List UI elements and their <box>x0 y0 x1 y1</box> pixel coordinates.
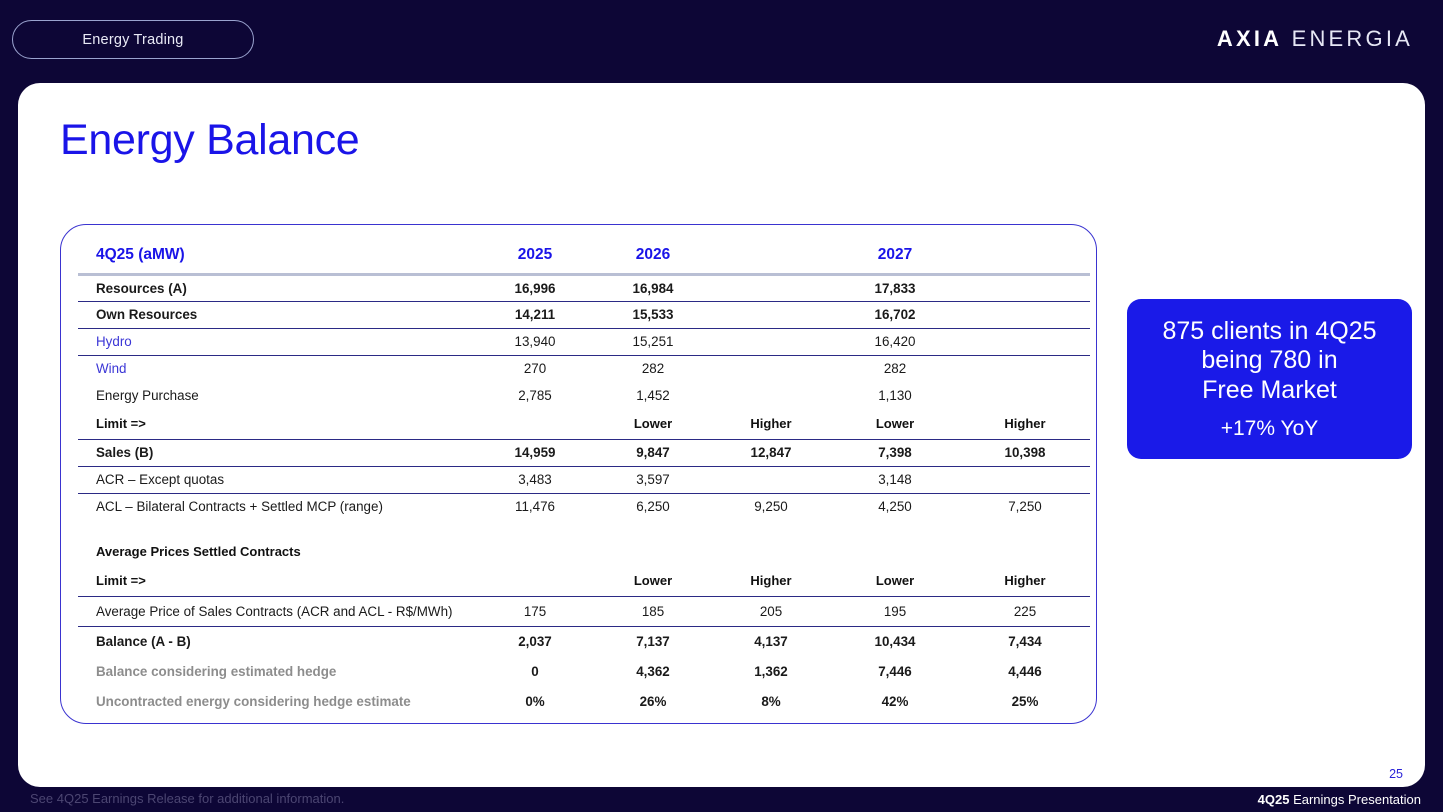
table-row: Average Price of Sales Contracts (ACR an… <box>78 596 1090 626</box>
table-row: Limit => Lower Higher Lower Higher <box>78 409 1090 439</box>
page-title: Energy Balance <box>60 116 359 165</box>
table-row: Sales (B) 14,959 9,847 12,847 7,398 10,3… <box>78 439 1090 466</box>
energy-balance-table: 4Q25 (aMW) 2025 2026 2027 Resources (A) … <box>78 238 1090 716</box>
callout-line-2: being 780 in <box>1201 346 1337 376</box>
callout-line-1: 875 clients in 4Q25 <box>1162 317 1376 347</box>
row-label-balance: Balance (A - B) <box>78 626 476 656</box>
row-label-energy-purchase: Energy Purchase <box>78 382 476 409</box>
table-row: Resources (A) 16,996 16,984 17,833 <box>78 274 1090 301</box>
row-label-acr: ACR – Except quotas <box>78 466 476 493</box>
logo-light-text: ENERGIA <box>1292 26 1413 51</box>
year-header-2026: 2026 <box>594 238 712 274</box>
company-logo: AXIA ENERGIA <box>1217 26 1413 52</box>
callout-yoy: +17% YoY <box>1221 417 1319 441</box>
row-label-hydro: Hydro <box>78 328 476 355</box>
year-header-2027: 2027 <box>830 238 960 274</box>
table-row: Balance (A - B) 2,037 7,137 4,137 10,434… <box>78 626 1090 656</box>
table-row: Limit => Lower Higher Lower Higher <box>78 566 1090 596</box>
row-label-own-resources: Own Resources <box>78 301 476 328</box>
row-label-balance-hedge: Balance considering estimated hedge <box>78 656 476 686</box>
table-section-heading: Average Prices Settled Contracts <box>78 536 1090 566</box>
footer-note: See 4Q25 Earnings Release for additional… <box>30 791 344 806</box>
section-tag-pill: Energy Trading <box>12 20 254 59</box>
table-row: Uncontracted energy considering hedge es… <box>78 686 1090 716</box>
row-label-uncontracted-energy: Uncontracted energy considering hedge es… <box>78 686 476 716</box>
table-corner-label: 4Q25 (aMW) <box>78 238 476 274</box>
row-label-wind: Wind <box>78 355 476 382</box>
clients-callout: 875 clients in 4Q25 being 780 in Free Ma… <box>1127 299 1412 459</box>
row-label-limit-1: Limit => <box>78 409 476 439</box>
year-header-2025: 2025 <box>476 238 594 274</box>
footer-presentation-text: Earnings Presentation <box>1289 792 1421 807</box>
row-label-average-prices-heading: Average Prices Settled Contracts <box>78 536 476 566</box>
slide-card: Energy Balance 4Q25 (aMW) 2025 2026 2027 <box>18 83 1425 787</box>
callout-line-3: Free Market <box>1202 376 1337 406</box>
table-spacer <box>78 520 1090 536</box>
table-row: Energy Purchase 2,785 1,452 1,130 <box>78 382 1090 409</box>
footer-quarter: 4Q25 <box>1258 792 1290 807</box>
row-label-average-price-sales: Average Price of Sales Contracts (ACR an… <box>78 596 476 626</box>
table-row: ACR – Except quotas 3,483 3,597 3,148 <box>78 466 1090 493</box>
table-row: Balance considering estimated hedge 0 4,… <box>78 656 1090 686</box>
table-row: Own Resources 14,211 15,533 16,702 <box>78 301 1090 328</box>
row-label-sales: Sales (B) <box>78 439 476 466</box>
row-label-limit-2: Limit => <box>78 566 476 596</box>
section-tag-label: Energy Trading <box>82 32 183 48</box>
table-header-row: 4Q25 (aMW) 2025 2026 2027 <box>78 238 1090 274</box>
logo-bold-text: AXIA <box>1217 26 1282 51</box>
table-row: ACL – Bilateral Contracts + Settled MCP … <box>78 493 1090 520</box>
row-label-resources: Resources (A) <box>78 274 476 301</box>
table-row: Hydro 13,940 15,251 16,420 <box>78 328 1090 355</box>
table-row: Wind 270 282 282 <box>78 355 1090 382</box>
footer-presentation-label: 4Q25 Earnings Presentation <box>1258 792 1421 807</box>
row-label-acl: ACL – Bilateral Contracts + Settled MCP … <box>78 493 476 520</box>
slide-root: Energy Trading AXIA ENERGIA Energy Balan… <box>0 0 1443 812</box>
page-number: 25 <box>1389 767 1403 781</box>
